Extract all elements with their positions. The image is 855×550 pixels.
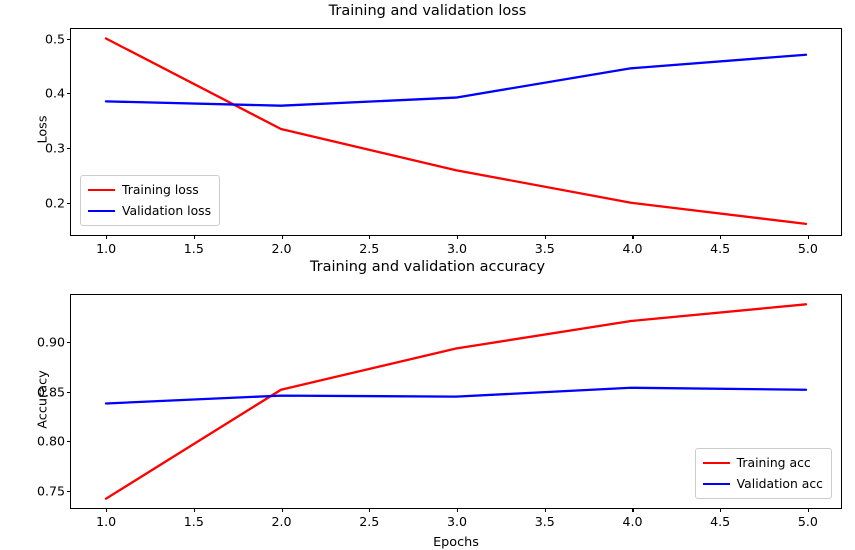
y-tick-mark	[67, 441, 71, 442]
training-loss-line-swatch	[88, 189, 115, 191]
validation-acc-line-swatch	[703, 483, 730, 485]
y-tick-label: 0.85	[37, 384, 65, 399]
validation-loss-line-swatch	[88, 210, 115, 212]
x-tick-mark	[457, 508, 458, 512]
x-tick-label: 1.5	[184, 241, 204, 256]
x-tick-label: 4.0	[622, 514, 642, 529]
y-tick-label: 0.3	[45, 141, 65, 156]
accuracy-axes: Accuracy Epochs 0.750.800.850.90 1.01.52…	[70, 294, 842, 509]
x-tick-mark	[282, 235, 283, 239]
x-tick-mark	[106, 508, 107, 512]
x-tick-label: 2.5	[359, 514, 379, 529]
training-acc-legend-label: Training acc	[737, 457, 811, 469]
x-tick-label: 2.5	[359, 241, 379, 256]
loss-legend: Training loss Validation loss	[80, 175, 220, 226]
legend-item-training-loss: Training loss	[88, 181, 211, 199]
x-tick-mark	[632, 235, 633, 239]
training-loss-legend-label: Training loss	[122, 184, 199, 196]
series-line-1	[106, 388, 806, 404]
y-tick-label: 0.2	[45, 195, 65, 210]
y-tick-label: 0.90	[37, 335, 65, 350]
x-tick-mark	[457, 235, 458, 239]
x-tick-label: 3.5	[535, 514, 555, 529]
x-tick-label: 4.0	[622, 241, 642, 256]
x-tick-mark	[545, 235, 546, 239]
x-tick-label: 3.5	[535, 241, 555, 256]
x-tick-mark	[282, 508, 283, 512]
x-tick-label: 3.0	[447, 241, 467, 256]
legend-item-validation-loss: Validation loss	[88, 202, 211, 220]
x-tick-mark	[808, 508, 809, 512]
validation-acc-legend-label: Validation acc	[737, 478, 823, 490]
y-tick-label: 0.5	[45, 31, 65, 46]
legend-item-validation-acc: Validation acc	[703, 475, 823, 493]
y-tick-mark	[67, 342, 71, 343]
matplotlib-figure: Training and validation loss Loss 0.20.3…	[0, 0, 855, 547]
series-line-1	[106, 55, 806, 106]
x-tick-mark	[369, 508, 370, 512]
x-tick-mark	[545, 508, 546, 512]
y-tick-label: 0.80	[37, 434, 65, 449]
x-tick-mark	[808, 235, 809, 239]
x-tick-label: 2.0	[272, 241, 292, 256]
y-tick-mark	[67, 39, 71, 40]
y-tick-mark	[67, 203, 71, 204]
x-tick-mark	[194, 508, 195, 512]
x-tick-mark	[720, 235, 721, 239]
x-tick-label: 3.0	[447, 514, 467, 529]
x-tick-label: 4.5	[710, 241, 730, 256]
x-tick-mark	[369, 235, 370, 239]
validation-loss-legend-label: Validation loss	[122, 205, 211, 217]
y-tick-label: 0.4	[45, 86, 65, 101]
accuracy-x-axis-label: Epochs	[71, 535, 841, 550]
x-tick-mark	[106, 235, 107, 239]
x-tick-label: 5.0	[798, 514, 818, 529]
x-tick-label: 5.0	[798, 241, 818, 256]
x-tick-mark	[720, 508, 721, 512]
loss-plot-title: Training and validation loss	[0, 3, 855, 19]
y-tick-mark	[67, 148, 71, 149]
y-tick-mark	[67, 491, 71, 492]
x-tick-label: 2.0	[272, 514, 292, 529]
y-tick-mark	[67, 392, 71, 393]
x-tick-label: 1.5	[184, 514, 204, 529]
loss-subplot: Training and validation loss Loss 0.20.3…	[0, 0, 855, 274]
accuracy-legend: Training acc Validation acc	[695, 448, 832, 499]
legend-item-training-acc: Training acc	[703, 454, 823, 472]
y-tick-label: 0.75	[37, 483, 65, 498]
x-tick-label: 4.5	[710, 514, 730, 529]
x-tick-label: 1.0	[96, 514, 116, 529]
accuracy-subplot: Training and validation accuracy Accurac…	[0, 273, 855, 547]
y-tick-mark	[67, 93, 71, 94]
x-tick-mark	[194, 235, 195, 239]
x-tick-label: 1.0	[96, 241, 116, 256]
loss-axes: Loss 0.20.30.40.5 1.01.52.02.53.03.54.04…	[70, 28, 842, 236]
training-acc-line-swatch	[703, 462, 730, 464]
x-tick-mark	[632, 508, 633, 512]
accuracy-plot-title: Training and validation accuracy	[0, 259, 855, 275]
